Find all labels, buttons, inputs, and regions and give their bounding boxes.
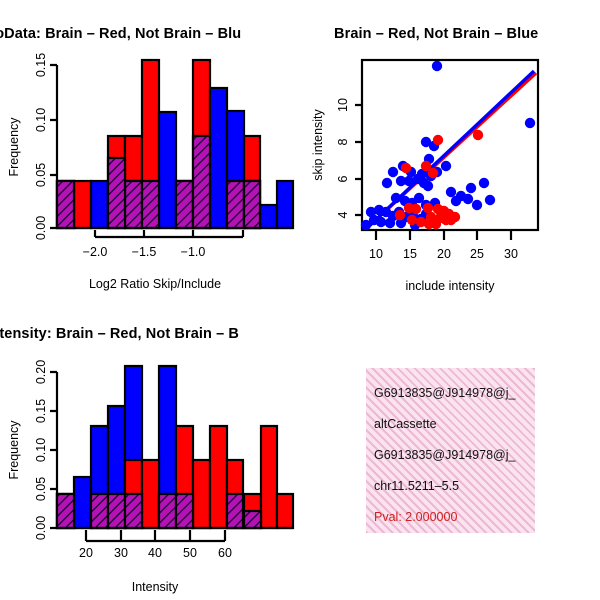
svg-text:20: 20 — [437, 247, 451, 261]
svg-text:30: 30 — [114, 546, 128, 560]
hist-intensity-ylabel: Frequency — [7, 420, 21, 480]
annotation-event-type: altCassette — [374, 417, 535, 431]
svg-text:0.00: 0.00 — [34, 516, 48, 540]
hist-intensity-xlabel: Intensity — [132, 580, 179, 594]
hist-intensity-x-axis: 20 30 40 50 60 Intensity — [57, 528, 293, 594]
svg-text:50: 50 — [183, 546, 197, 560]
svg-text:15: 15 — [403, 247, 417, 261]
svg-text:0.15: 0.15 — [34, 399, 48, 423]
scatter-x-axis: 10 15 20 25 30 include intensity — [369, 231, 518, 293]
svg-text:8: 8 — [336, 138, 350, 145]
hist-ratio-ylabel: Frequency — [7, 117, 21, 177]
svg-text:30: 30 — [504, 247, 518, 261]
hist-ratio-bars — [57, 60, 293, 228]
hist-ratio-panel: 0.00 0.05 0.10 0.15 Frequency — [0, 45, 300, 300]
svg-text:0.05: 0.05 — [34, 163, 48, 187]
hist-ratio-xlabel: Log2 Ratio Skip/Include — [89, 277, 221, 291]
svg-text:0.10: 0.10 — [34, 108, 48, 132]
scatter-svg: 4 6 8 10 skip intensity — [300, 45, 600, 305]
svg-text:4: 4 — [336, 211, 350, 218]
svg-text:60: 60 — [218, 546, 232, 560]
svg-text:−1.0: −1.0 — [181, 245, 206, 259]
hist-ratio-svg: 0.00 0.05 0.10 0.15 Frequency — [0, 45, 300, 300]
svg-text:10: 10 — [369, 247, 383, 261]
svg-text:6: 6 — [336, 175, 350, 182]
scatter-fit-lines — [366, 71, 536, 229]
scatter-panel: 4 6 8 10 skip intensity — [300, 45, 600, 305]
svg-text:0.20: 0.20 — [34, 360, 48, 384]
hist-ratio-title: atioData: Brain – Red, Not Brain – Blu — [0, 26, 241, 42]
scatter-points-notbrain — [361, 61, 535, 230]
scatter-ylabel: skip intensity — [311, 108, 325, 180]
scatter-frame — [362, 60, 538, 230]
hist-intensity-svg: 0.00 0.05 0.10 0.15 0.20 Frequency — [0, 345, 300, 600]
svg-text:0.00: 0.00 — [34, 216, 48, 240]
svg-text:25: 25 — [470, 247, 484, 261]
hist-intensity-title: ne Itensity: Brain – Red, Not Brain – B — [0, 326, 239, 342]
hist-intensity-panel: 0.00 0.05 0.10 0.15 0.20 Frequency — [0, 345, 300, 600]
hist-ratio-x-axis: −2.0 −1.5 −1.0 Log2 Ratio Skip/Include — [57, 228, 293, 291]
scatter-xlabel: include intensity — [406, 279, 496, 293]
annotation-event-id: G6913835@J914978@j_ — [374, 386, 535, 400]
svg-text:−1.5: −1.5 — [132, 245, 157, 259]
svg-text:0.05: 0.05 — [34, 477, 48, 501]
scatter-y-axis: 4 6 8 10 skip intensity — [311, 98, 362, 218]
svg-text:0.10: 0.10 — [34, 438, 48, 462]
scatter-title: Brain – Red, Not Brain – Blue — [334, 26, 538, 42]
svg-text:20: 20 — [79, 546, 93, 560]
annotation-event-id-2: G6913835@J914978@j_ — [374, 448, 535, 462]
hist-intensity-bars — [57, 366, 293, 528]
annotation-box: G6913835@J914978@j_ altCassette G6913835… — [366, 368, 535, 533]
svg-text:0.15: 0.15 — [34, 53, 48, 77]
annotation-locus: chr11.5211–5.5 — [374, 479, 535, 493]
hist-ratio-y-axis: 0.00 0.05 0.10 0.15 Frequency — [7, 53, 57, 240]
hist-intensity-y-axis: 0.00 0.05 0.10 0.15 0.20 Frequency — [7, 360, 57, 540]
svg-text:40: 40 — [148, 546, 162, 560]
annotation-pval: Pval: 2.000000 — [374, 510, 535, 524]
svg-text:10: 10 — [336, 98, 350, 112]
svg-text:−2.0: −2.0 — [83, 245, 108, 259]
